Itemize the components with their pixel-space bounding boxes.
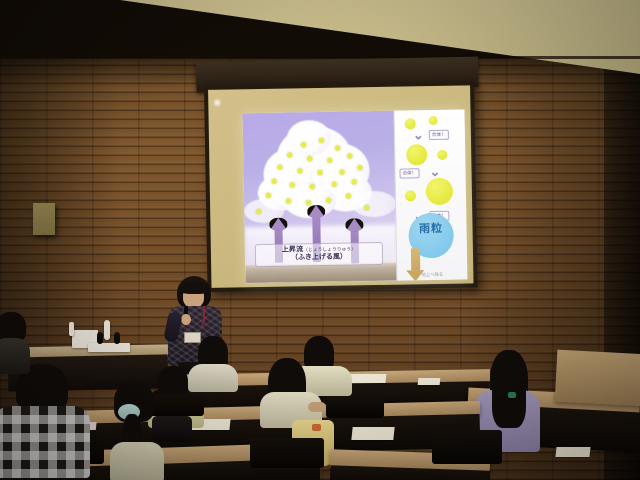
water-droplet: [406, 144, 427, 165]
cloud-droplet: [306, 200, 311, 205]
cloud-droplet: [347, 153, 352, 158]
caption-ruby-text: （じょうしょうりゅう）: [303, 246, 356, 252]
cloud-droplet: [332, 182, 337, 187]
caption-main-text: 上昇流: [282, 246, 304, 253]
small-dark-object: [97, 332, 103, 344]
screen-surface: 上昇流（じょうしょうりゅう） （ふき上げる風） ⌄ 合体！ 合体！ ⌄: [208, 85, 473, 288]
cloud-droplet: [357, 165, 362, 170]
panel-footnote: 地上へ降る: [397, 271, 467, 278]
desk-paper: [555, 447, 590, 457]
desk-paper: [351, 427, 394, 440]
updraft-caption: 上昇流（じょうしょうりゅう） （ふき上げる風）: [255, 241, 383, 267]
water-droplet: [429, 116, 438, 125]
cloud-droplet: [335, 146, 340, 151]
cloud-droplet: [310, 184, 315, 189]
chair[interactable]: [250, 438, 324, 468]
black-bag: [152, 416, 192, 442]
water-droplet: [426, 178, 453, 205]
presenter-fringe: [179, 282, 210, 294]
cloud-droplet: [286, 198, 291, 203]
cloud-droplet: [317, 170, 322, 175]
cloud-droplet: [272, 179, 277, 184]
desk-panel-right-upper: [555, 350, 640, 407]
water-droplet: [437, 150, 447, 160]
merge-label: 合体！: [429, 130, 449, 140]
slide-sky-panel: 上昇流（じょうしょうりゅう） （ふき上げる風）: [242, 111, 397, 284]
chair[interactable]: [326, 396, 384, 418]
cloud-droplet: [339, 170, 344, 175]
white-bottle-object: [104, 320, 110, 340]
ceiling-wall-seam: [0, 56, 640, 59]
cloud-droplet: [287, 152, 292, 157]
wall-panel-box: [33, 203, 55, 235]
student-far-left-edge[interactable]: [0, 312, 32, 374]
screen-glare: [214, 100, 220, 106]
merge-chevron-icon: ⌄: [413, 128, 424, 141]
chair[interactable]: [432, 430, 502, 464]
slide-coalescence-panel: ⌄ 合体！ 合体！ ⌄ ⌄ 合体！ 雨粒 地上: [393, 109, 467, 280]
cloud-droplet: [307, 156, 312, 161]
desk-paper: [350, 374, 387, 383]
cloud-droplet: [290, 182, 295, 187]
caption-sub-text: （ふき上げる風）: [259, 253, 379, 264]
cloud-droplet: [266, 193, 271, 198]
cloud-droplet: [346, 193, 351, 198]
cloud-droplet: [326, 198, 331, 203]
cloud-droplet: [256, 209, 261, 214]
student-top-checkered: [0, 406, 90, 478]
merge-label: 合体！: [399, 168, 419, 178]
projected-slide: 上昇流（じょうしょうりゅう） （ふき上げる風） ⌄ 合体！ 合体！ ⌄: [242, 109, 467, 283]
student-top: [110, 442, 164, 480]
student-lanyard: [508, 392, 516, 398]
presenter-hand: [181, 314, 191, 325]
student-arm: [308, 402, 326, 412]
water-droplet: [405, 190, 416, 201]
small-dark-object: [114, 332, 120, 344]
bag-tag: [312, 424, 321, 431]
cloud-droplet: [319, 138, 324, 143]
desk-paper: [418, 378, 441, 385]
cloud-droplet: [297, 168, 302, 173]
cloud-blob: [352, 191, 396, 218]
student-top: [0, 338, 30, 374]
cloud-droplet: [327, 158, 332, 163]
cloud-droplet: [277, 165, 282, 170]
cloud-droplet: [364, 205, 369, 210]
raindrop-label: 雨粒: [408, 220, 453, 237]
white-bottle-object: [69, 322, 74, 336]
student-checkered-foreground-left[interactable]: [0, 370, 94, 480]
merge-chevron-icon: ⌄: [429, 165, 440, 178]
classroom-photo: 上昇流（じょうしょうりゅう） （ふき上げる風） ⌄ 合体！ 合体！ ⌄: [0, 0, 640, 480]
white-tray-object: [88, 343, 130, 352]
cloud-droplet: [301, 142, 306, 147]
cloud-droplet: [352, 179, 357, 184]
projection-screen[interactable]: 上昇流（じょうしょうりゅう） （ふき上げる風） ⌄ 合体！ 合体！ ⌄: [204, 81, 478, 292]
